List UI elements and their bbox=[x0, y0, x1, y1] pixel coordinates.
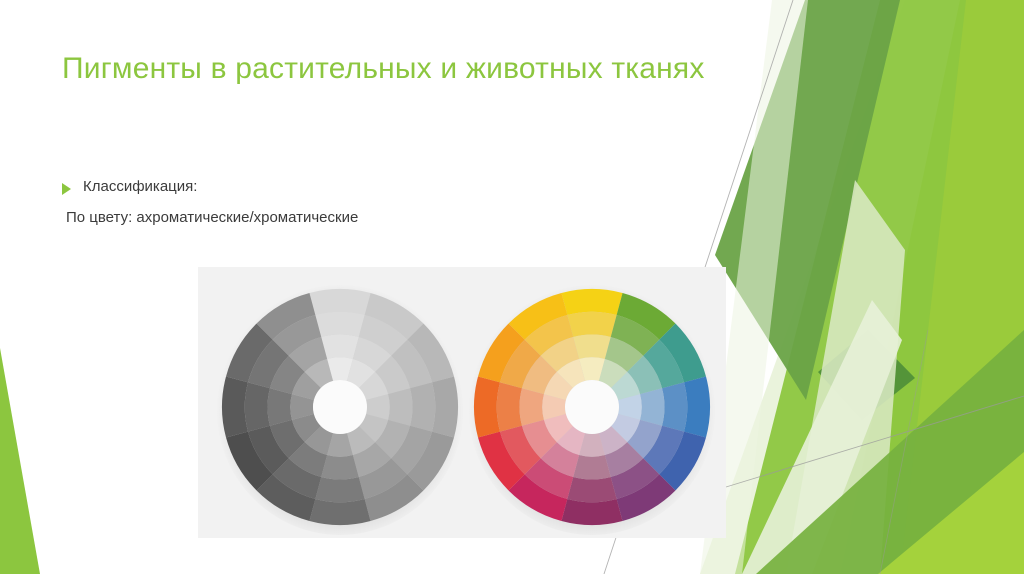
achromatic-wheel-segment bbox=[321, 455, 359, 479]
pale-green-sliver bbox=[786, 180, 905, 574]
achromatic-wheel-segment bbox=[309, 289, 370, 315]
chromatic-wheel-segment bbox=[567, 477, 616, 502]
chromatic-wheel-segment bbox=[561, 289, 622, 315]
achromatic-wheel-segment bbox=[388, 388, 412, 426]
color-wheels-svg bbox=[198, 267, 726, 538]
achromatic-wheel-hub bbox=[313, 380, 367, 434]
chromatic-wheel-segment bbox=[497, 382, 522, 431]
chromatic-wheel-segment bbox=[662, 382, 687, 431]
achromatic-wheel-segment bbox=[268, 388, 292, 426]
achromatic-wheel-segment bbox=[315, 477, 364, 502]
hairline-diagonal-2 bbox=[726, 396, 1024, 487]
deep-green-accent bbox=[818, 330, 915, 420]
bright-lime-column bbox=[840, 0, 1024, 574]
body-text-block: Классификация: По цвету: ахроматические/… bbox=[62, 176, 752, 230]
achromatic-wheel-segment bbox=[432, 376, 458, 437]
achromatic-wheel-segment bbox=[410, 382, 435, 431]
chromatic-wheel-segment bbox=[474, 376, 500, 437]
achromatic-wheel-segment bbox=[222, 376, 248, 437]
page-title: Пигменты в растительных и животных тканя… bbox=[62, 50, 792, 88]
slide-canvas: Пигменты в растительных и животных тканя… bbox=[0, 0, 1024, 574]
achromatic-wheel-segment bbox=[309, 499, 370, 525]
chromatic-wheel-segment bbox=[520, 388, 544, 426]
bottom-bright-lime-wedge bbox=[878, 452, 1024, 574]
bullet-item-label: Классификация: bbox=[83, 176, 197, 198]
chromatic-wheel-segment bbox=[567, 312, 616, 337]
bottom-green-wedge bbox=[756, 330, 1024, 574]
achromatic-wheel bbox=[222, 289, 458, 525]
chromatic-wheel-segment bbox=[573, 455, 611, 479]
body-line-color-classification: По цвету: ахроматические/хроматические bbox=[66, 206, 752, 230]
color-wheels-image bbox=[198, 267, 726, 538]
hairline-diagonal-3 bbox=[880, 330, 928, 574]
left-triangle-shape bbox=[0, 348, 40, 574]
chromatic-wheel-segment bbox=[573, 335, 611, 359]
chromatic-wheel-segment bbox=[684, 376, 710, 437]
title-block: Пигменты в растительных и животных тканя… bbox=[62, 50, 792, 88]
bullet-item-classification: Классификация: bbox=[62, 176, 752, 198]
triangle-bullet-icon bbox=[62, 183, 71, 195]
chromatic-wheel-segment bbox=[640, 388, 664, 426]
chromatic-wheel-hub bbox=[565, 380, 619, 434]
pale-green-sliver-2 bbox=[742, 300, 902, 574]
achromatic-wheel-segment bbox=[245, 382, 270, 431]
chromatic-wheel bbox=[474, 289, 710, 525]
chromatic-wheel-segment bbox=[561, 499, 622, 525]
achromatic-wheel-segment bbox=[321, 335, 359, 359]
achromatic-wheel-segment bbox=[315, 312, 364, 337]
